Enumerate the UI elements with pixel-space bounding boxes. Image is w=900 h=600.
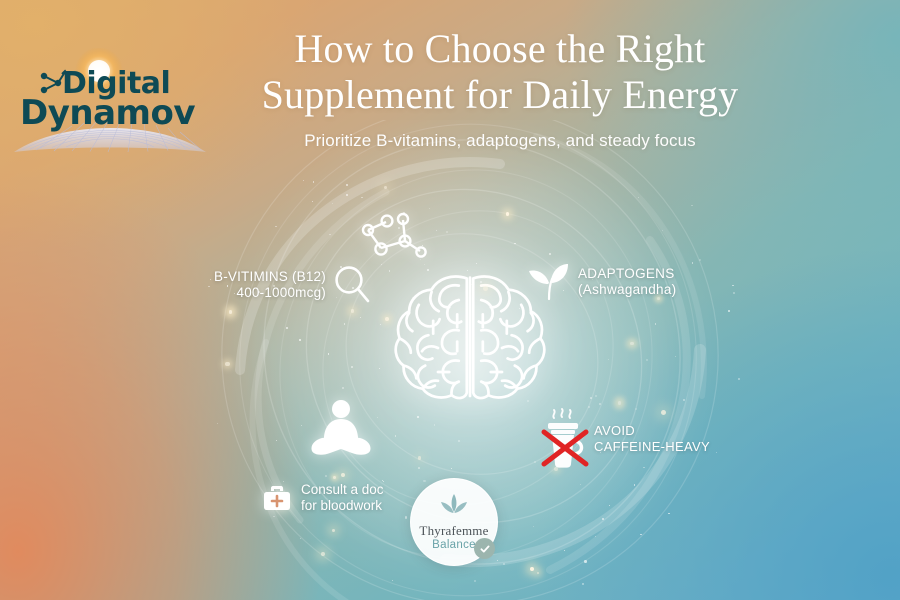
molecule-icon [355, 208, 431, 264]
callout-adaptogens-line2: (Ashwagandha) [578, 282, 676, 298]
brand-logo[interactable]: Digital Dynamov [10, 48, 210, 158]
leaf-sprout-icon [528, 262, 570, 302]
callout-adaptogens[interactable]: ADAPTOGENS (Ashwagandha) [528, 262, 676, 302]
callout-b-vitamins-line2: 400-1000mcg) [214, 285, 326, 301]
callout-avoid-caffeine[interactable]: AVOID CAFFEINE-HEAVY [538, 408, 710, 470]
infographic-canvas: Digital Dynamov How to Choose the Right … [0, 0, 900, 600]
magnifier-icon [332, 264, 372, 306]
badge-brand-sub: Balance [432, 539, 476, 551]
product-badge[interactable]: Thyrafemme Balance [410, 478, 498, 566]
callout-avoid-caffeine-line1: AVOID [594, 423, 710, 439]
coffee-cup-crossed-icon [538, 408, 590, 470]
callout-adaptogens-line1: ADAPTOGENS [578, 266, 676, 282]
callout-b-vitamins-line1: B-VITIMINS (B12) [214, 269, 326, 285]
callout-b-vitamins[interactable]: B-VITIMINS (B12) 400-1000mcg) [214, 264, 372, 306]
callout-consult-doctor[interactable]: Consult a doc for bloodwork [262, 482, 384, 515]
callout-consult-doctor-line2: for bloodwork [301, 498, 384, 514]
meditation-lotus-icon [308, 398, 374, 460]
header-block: How to Choose the Right Supplement for D… [190, 26, 810, 151]
callout-b-vitamins-text: B-VITIMINS (B12) 400-1000mcg) [214, 269, 326, 302]
logo-word-dynamov: Dynamov [20, 93, 195, 133]
check-circle-icon [474, 538, 495, 559]
callout-adaptogens-text: ADAPTOGENS (Ashwagandha) [578, 266, 676, 299]
page-subtitle: Prioritize B-vitamins, adaptogens, and s… [190, 131, 810, 151]
title-line-2: Supplement for Daily Energy [262, 72, 739, 117]
leaf-trio-icon [438, 493, 470, 521]
callout-avoid-caffeine-line2: CAFFEINE-HEAVY [594, 439, 710, 455]
callout-avoid-caffeine-text: AVOID CAFFEINE-HEAVY [594, 423, 710, 455]
title-line-1: How to Choose the Right [294, 26, 705, 71]
callout-consult-doctor-text: Consult a doc for bloodwork [301, 482, 384, 515]
badge-brand-name: Thyrafemme [419, 523, 488, 539]
medical-bag-icon [262, 483, 292, 513]
page-title: How to Choose the Right Supplement for D… [190, 26, 810, 119]
callout-consult-doctor-line1: Consult a doc [301, 482, 384, 498]
